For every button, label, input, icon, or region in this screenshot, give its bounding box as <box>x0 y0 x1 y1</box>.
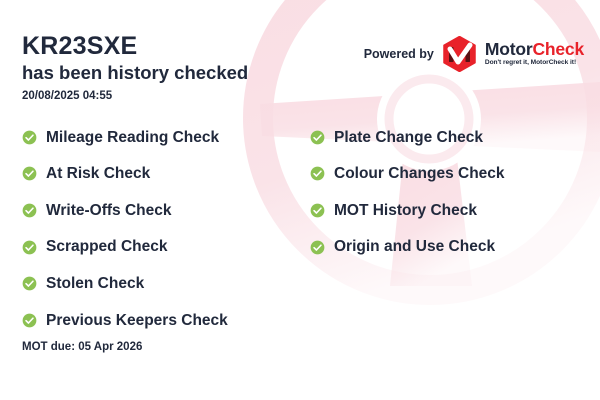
check-item: At Risk Check <box>22 156 302 193</box>
check-item: MOT History Check <box>310 192 590 229</box>
green-check-circle-icon <box>22 166 37 181</box>
check-item: Stolen Check <box>22 265 302 302</box>
check-item-label: MOT History Check <box>334 203 477 219</box>
green-check-circle-icon <box>310 240 325 255</box>
check-item-label: Stolen Check <box>46 276 144 292</box>
motorcheck-wordmark: MotorCheck <box>485 41 584 59</box>
registration-plate: KR23SXE <box>22 32 248 60</box>
check-item: Scrapped Check <box>22 229 302 266</box>
wordmark-check: Check <box>532 39 584 59</box>
check-item-label: Colour Changes Check <box>334 166 505 182</box>
check-item: Previous Keepers Check <box>22 302 302 339</box>
green-check-circle-icon <box>22 130 37 145</box>
check-item-label: Write-Offs Check <box>46 203 171 219</box>
green-check-circle-icon <box>310 166 325 181</box>
check-item: Origin and Use Check <box>310 229 590 266</box>
green-check-circle-icon <box>310 203 325 218</box>
check-item-label: At Risk Check <box>46 166 150 182</box>
check-item-label: Previous Keepers Check <box>46 313 228 329</box>
check-item: Colour Changes Check <box>310 156 590 193</box>
check-item-label: Origin and Use Check <box>334 239 495 255</box>
green-check-circle-icon <box>310 130 325 145</box>
powered-by-label: Powered by <box>364 47 434 61</box>
check-item-label: Mileage Reading Check <box>46 130 219 146</box>
page-title: has been history checked <box>22 62 248 84</box>
report-timestamp: 20/08/2025 04:55 <box>22 90 248 102</box>
header-left-block: KR23SXE has been history checked 20/08/2… <box>22 32 248 102</box>
checks-column-right: Plate Change Check Colour Changes Check … <box>310 119 590 265</box>
vehicle-history-check-card: KR23SXE has been history checked 20/08/2… <box>0 0 600 400</box>
check-item-label: Scrapped Check <box>46 239 167 255</box>
green-check-circle-icon <box>22 203 37 218</box>
green-check-circle-icon <box>22 240 37 255</box>
green-check-circle-icon <box>22 276 37 291</box>
mot-due-text: MOT due: 05 Apr 2026 <box>22 341 142 353</box>
check-item: Plate Change Check <box>310 119 590 156</box>
check-item-label: Plate Change Check <box>334 130 483 146</box>
wordmark-motor: Motor <box>485 39 533 59</box>
brand-tagline: Don't regret it, MotorCheck it! <box>485 60 584 67</box>
motorcheck-wordmark-block: MotorCheck Don't regret it, MotorCheck i… <box>485 41 584 67</box>
motorcheck-hexagon-logo-icon <box>443 36 476 72</box>
checks-column-left: Mileage Reading Check At Risk Check Writ… <box>22 119 302 339</box>
green-check-circle-icon <box>22 313 37 328</box>
check-item: Write-Offs Check <box>22 192 302 229</box>
check-item: Mileage Reading Check <box>22 119 302 156</box>
powered-by-branding: Powered by MotorCheck Don't regret it, M… <box>364 36 584 72</box>
